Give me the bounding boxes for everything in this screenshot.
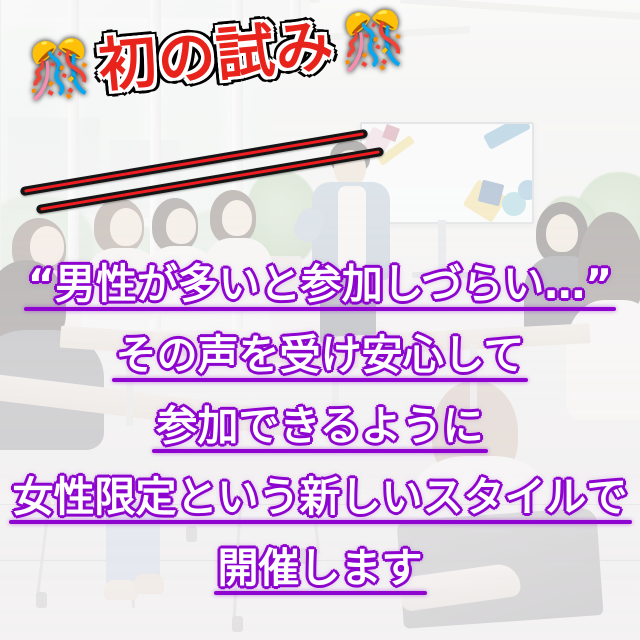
copy-line-2-text: その声を受け安心して	[116, 331, 525, 379]
copy-line-2: その声を受け安心して	[116, 333, 525, 379]
copy-line-5: 開催します	[218, 546, 423, 592]
copy-line-5-text: 開催します	[218, 544, 423, 592]
confetti-ball-icon-left: 🎊	[24, 40, 96, 100]
copy-line-4: 女性限定という新しいスタイルで	[13, 475, 628, 521]
copy-line-5-underline	[214, 591, 427, 595]
copy-line-3-underline	[152, 449, 487, 453]
copy-line-2-underline	[112, 378, 529, 382]
main-copy-block: “男性が多いと参加しづらい…” その声を受け安心して 参加できるように 女性限定…	[0, 262, 640, 592]
poster-canvas: 🎊 初の試み 🎊 “男性が多いと参加しづらい…” その声を受け安心して 参加でき…	[0, 0, 640, 640]
copy-line-1: “男性が多いと参加しづらい…”	[28, 262, 612, 308]
copy-line-1-underline	[24, 307, 616, 311]
copy-line-1-text: “男性が多いと参加しづらい…”	[28, 260, 612, 308]
copy-line-3: 参加できるように	[156, 404, 483, 450]
copy-line-4-underline	[9, 520, 632, 524]
confetti-ball-icon-right: 🎊	[338, 11, 410, 71]
copy-line-3-text: 参加できるように	[156, 402, 483, 450]
copy-line-4-text: 女性限定という新しいスタイルで	[13, 473, 628, 521]
